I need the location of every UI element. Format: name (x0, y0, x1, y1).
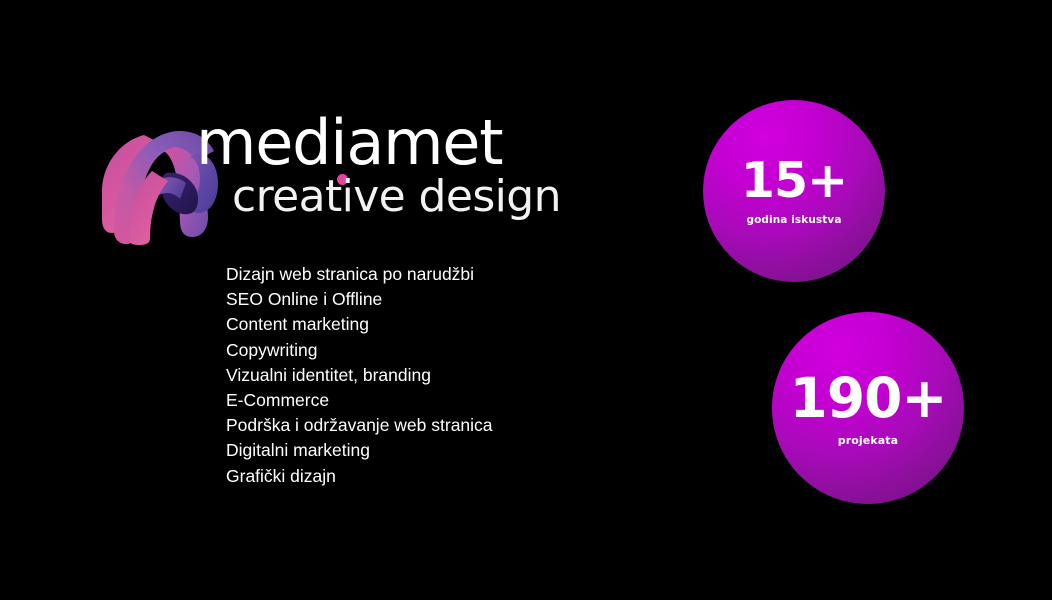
service-item: Podrška i održavanje web stranica (226, 413, 493, 438)
service-item: E-Commerce (226, 388, 493, 413)
brand-wordmark: mediamet (196, 112, 502, 174)
service-item: Content marketing (226, 312, 493, 337)
brand-tagline: creative design (232, 171, 561, 222)
stat-number: 190+ (790, 370, 947, 426)
promo-banner: mediamet creative design Dizajn web stra… (0, 0, 1052, 600)
service-item: Digitalni marketing (226, 438, 493, 463)
brand-wordmark-group: mediamet creative design (196, 108, 576, 238)
brand-logo-lockup: mediamet creative design (100, 108, 570, 238)
stat-caption: godina iskustva (746, 214, 841, 226)
services-list: Dizajn web stranica po narudžbi SEO Onli… (226, 262, 493, 489)
stat-caption: projekata (838, 435, 898, 447)
service-item: SEO Online i Offline (226, 287, 493, 312)
stat-badge-years-experience: 15+ godina iskustva (703, 100, 885, 282)
stat-number: 15+ (741, 156, 847, 206)
stat-badge-projects: 190+ projekata (772, 312, 964, 504)
service-item: Dizajn web stranica po narudžbi (226, 262, 493, 287)
service-item: Grafički dizajn (226, 464, 493, 489)
service-item: Vizualni identitet, branding (226, 363, 493, 388)
service-item: Copywriting (226, 338, 493, 363)
brand-tagline-wrap: creative design (232, 174, 561, 220)
